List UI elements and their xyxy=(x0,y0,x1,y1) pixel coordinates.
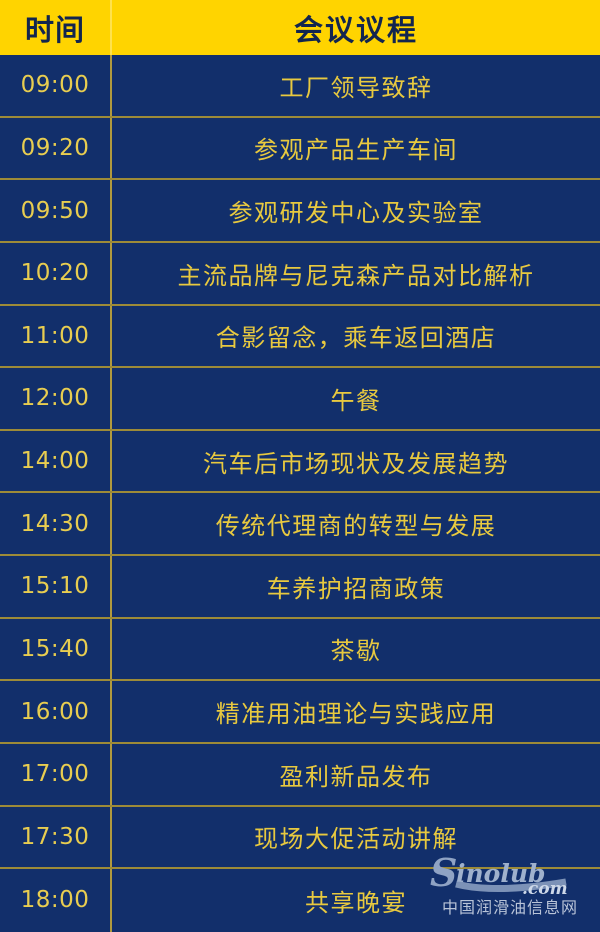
cell-time: 15:40 xyxy=(0,619,112,680)
table-row: 15:10 车养护招商政策 xyxy=(0,556,600,619)
table-row: 11:00 合影留念，乘车返回酒店 xyxy=(0,306,600,369)
table-row: 14:30 传统代理商的转型与发展 xyxy=(0,493,600,556)
cell-time: 10:20 xyxy=(0,243,112,304)
conference-agenda-table: 时间 会议议程 09:00 工厂领导致辞 09:20 参观产品生产车间 09:5… xyxy=(0,0,600,932)
table-header-row: 时间 会议议程 xyxy=(0,0,600,55)
column-header-time: 时间 xyxy=(0,0,112,55)
cell-time: 14:00 xyxy=(0,431,112,492)
cell-time: 12:00 xyxy=(0,368,112,429)
table-row: 17:30 现场大促活动讲解 xyxy=(0,807,600,870)
cell-agenda: 午餐 xyxy=(112,368,600,429)
cell-time: 14:30 xyxy=(0,493,112,554)
table-row: 09:00 工厂领导致辞 xyxy=(0,55,600,118)
cell-agenda: 精准用油理论与实践应用 xyxy=(112,681,600,742)
table-row: 18:00 共享晚宴 xyxy=(0,869,600,932)
table-row: 14:00 汽车后市场现状及发展趋势 xyxy=(0,431,600,494)
cell-agenda: 现场大促活动讲解 xyxy=(112,807,600,868)
cell-time: 18:00 xyxy=(0,869,112,932)
cell-agenda: 茶歇 xyxy=(112,619,600,680)
cell-time: 09:50 xyxy=(0,180,112,241)
cell-time: 11:00 xyxy=(0,306,112,367)
cell-time: 17:30 xyxy=(0,807,112,868)
table-row: 17:00 盈利新品发布 xyxy=(0,744,600,807)
table-body: 09:00 工厂领导致辞 09:20 参观产品生产车间 09:50 参观研发中心… xyxy=(0,55,600,932)
table-row: 15:40 茶歇 xyxy=(0,619,600,682)
cell-time: 17:00 xyxy=(0,744,112,805)
cell-agenda: 盈利新品发布 xyxy=(112,744,600,805)
cell-agenda: 参观产品生产车间 xyxy=(112,118,600,179)
cell-agenda: 传统代理商的转型与发展 xyxy=(112,493,600,554)
table-row: 09:50 参观研发中心及实验室 xyxy=(0,180,600,243)
cell-agenda: 参观研发中心及实验室 xyxy=(112,180,600,241)
table-row: 16:00 精准用油理论与实践应用 xyxy=(0,681,600,744)
cell-agenda: 主流品牌与尼克森产品对比解析 xyxy=(112,243,600,304)
cell-agenda: 汽车后市场现状及发展趋势 xyxy=(112,431,600,492)
cell-time: 09:20 xyxy=(0,118,112,179)
table-row: 10:20 主流品牌与尼克森产品对比解析 xyxy=(0,243,600,306)
cell-agenda: 合影留念，乘车返回酒店 xyxy=(112,306,600,367)
cell-agenda: 车养护招商政策 xyxy=(112,556,600,617)
cell-agenda: 工厂领导致辞 xyxy=(112,55,600,116)
column-header-agenda: 会议议程 xyxy=(112,0,600,55)
cell-time: 16:00 xyxy=(0,681,112,742)
cell-time: 15:10 xyxy=(0,556,112,617)
table-row: 12:00 午餐 xyxy=(0,368,600,431)
cell-agenda: 共享晚宴 xyxy=(112,869,600,932)
table-row: 09:20 参观产品生产车间 xyxy=(0,118,600,181)
cell-time: 09:00 xyxy=(0,55,112,116)
